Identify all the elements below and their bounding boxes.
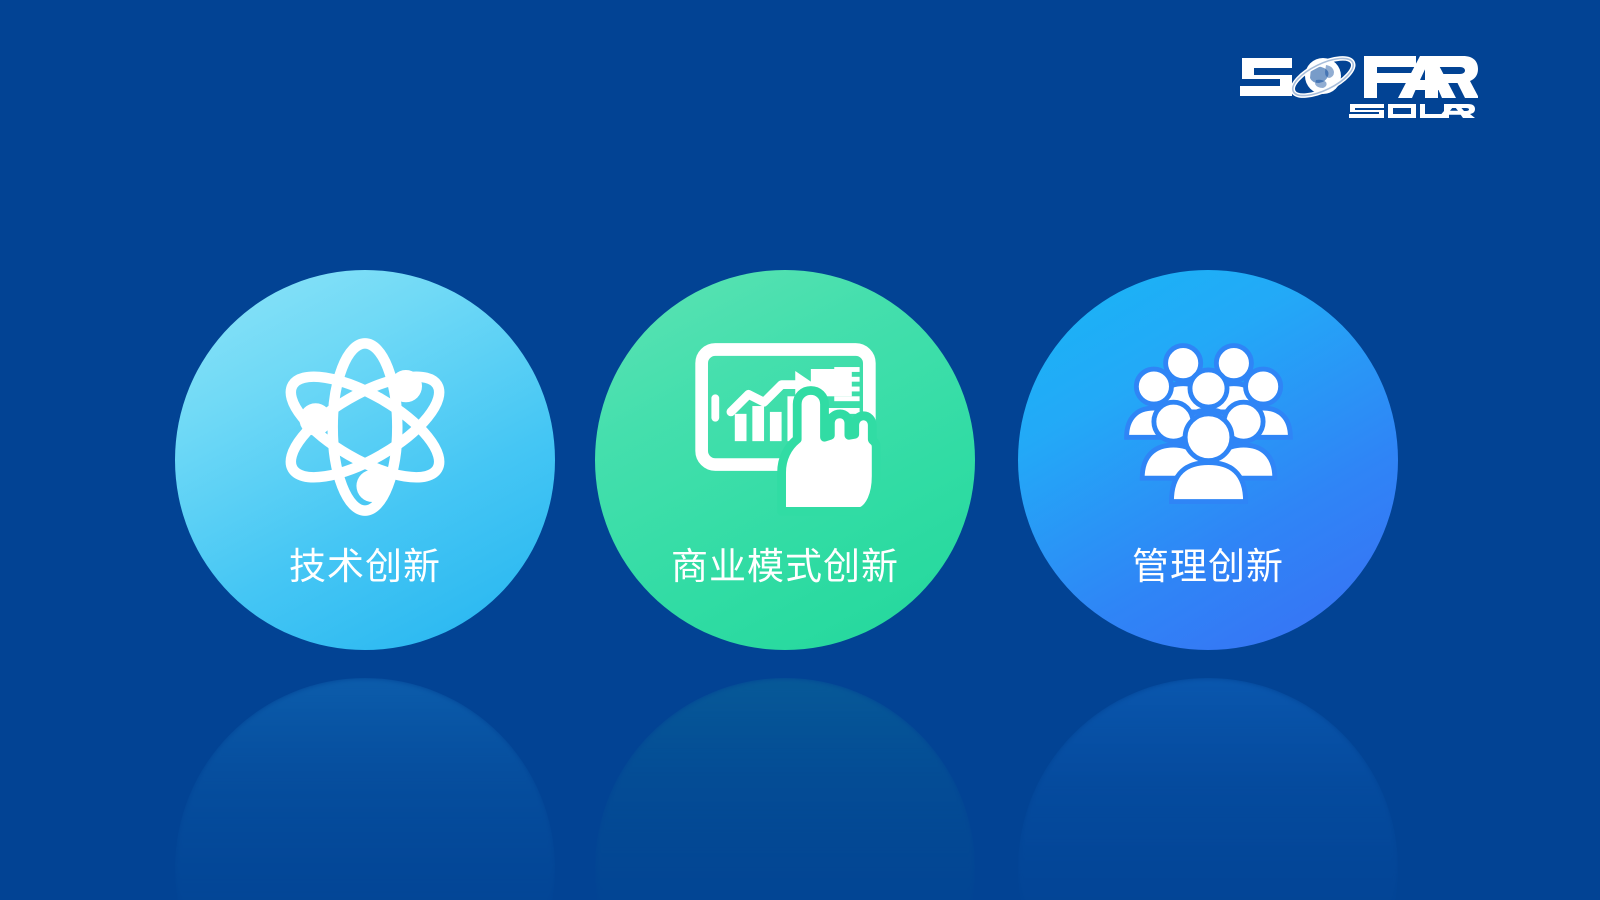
circle-business-model-innovation[interactable]: 商业模式创新: [595, 270, 975, 650]
card-label-business-model-innovation: 商业模式创新: [595, 545, 975, 589]
card-business-model-innovation[interactable]: 商业模式创新: [595, 270, 975, 650]
card-label-technology-innovation: 技术创新: [175, 545, 555, 589]
tablet-chart-touch-icon: [680, 322, 890, 532]
card-label-management-innovation: 管理创新: [1018, 545, 1398, 589]
slide-canvas: 技术创新: [0, 0, 1600, 900]
circle-management-innovation[interactable]: 管理创新: [1018, 270, 1398, 650]
innovation-circle-row: 技术创新: [0, 0, 1600, 900]
circle-technology-innovation[interactable]: 技术创新: [175, 270, 555, 650]
people-group-icon: [1103, 322, 1313, 532]
card-management-innovation[interactable]: 管理创新: [1018, 270, 1398, 650]
atom-icon: [260, 322, 470, 532]
card-technology-innovation[interactable]: 技术创新: [175, 270, 555, 650]
